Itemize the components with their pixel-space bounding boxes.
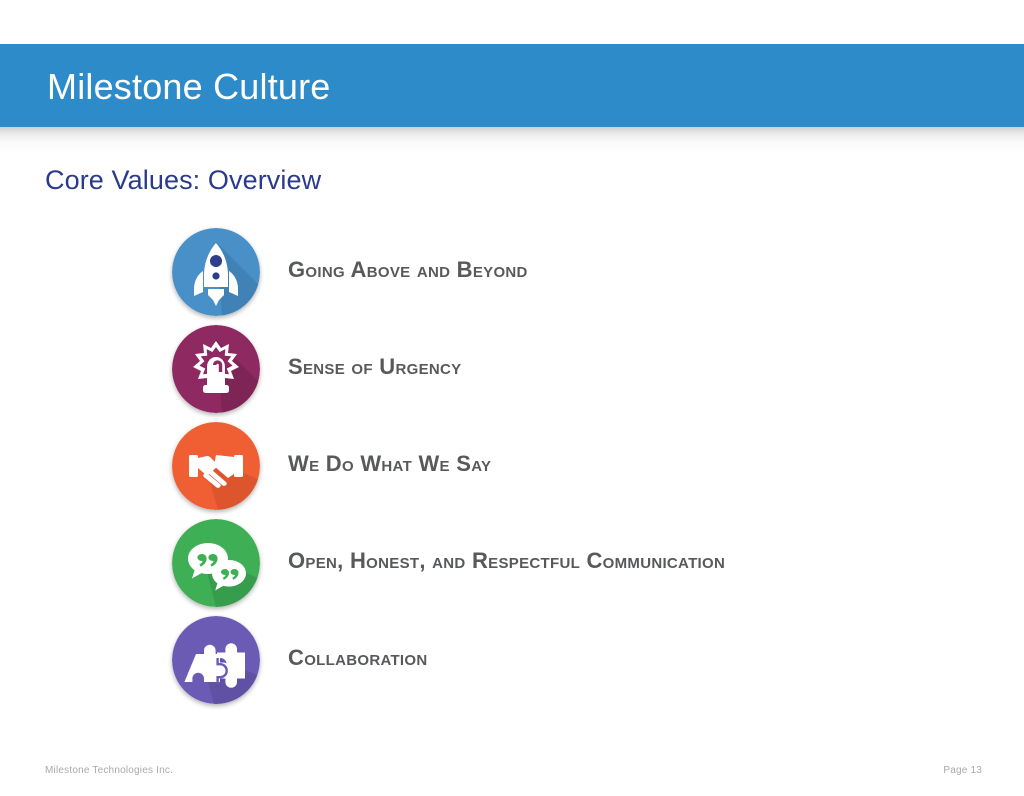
footer-page-number: Page 13 — [943, 765, 982, 776]
footer-company-name: Milestone Technologies Inc. — [45, 765, 173, 776]
list-item: Open, Honest, and Respectful Communicati… — [0, 519, 1024, 616]
core-value-icon-wrap — [172, 616, 260, 704]
core-value-label: Collaboration — [288, 644, 428, 672]
speech-bubbles-icon — [172, 519, 260, 607]
puzzle-pieces-icon — [172, 616, 260, 704]
header-band-shadow — [0, 127, 1024, 153]
core-value-label: We Do What We Say — [288, 450, 491, 478]
core-value-icon-wrap — [172, 325, 260, 413]
core-value-label: Open, Honest, and Respectful Communicati… — [288, 547, 725, 575]
list-item: Sense of Urgency — [0, 325, 1024, 422]
core-value-icon-wrap — [172, 519, 260, 607]
rocket-icon — [172, 228, 260, 316]
list-item: Going Above and Beyond — [0, 228, 1024, 325]
core-value-label: Going Above and Beyond — [288, 256, 528, 284]
page-title: Milestone Culture — [47, 66, 331, 108]
slide-canvas: Milestone Culture Core Values: Overview — [0, 0, 1024, 796]
core-value-icon-wrap — [172, 422, 260, 510]
handshake-icon — [172, 422, 260, 510]
slide-subtitle: Core Values: Overview — [45, 163, 321, 197]
core-values-list: Going Above and Beyond — [0, 228, 1024, 713]
list-item: We Do What We Say — [0, 422, 1024, 519]
siren-icon — [172, 325, 260, 413]
list-item: Collaboration — [0, 616, 1024, 713]
core-value-icon-wrap — [172, 228, 260, 316]
core-value-label: Sense of Urgency — [288, 353, 461, 381]
